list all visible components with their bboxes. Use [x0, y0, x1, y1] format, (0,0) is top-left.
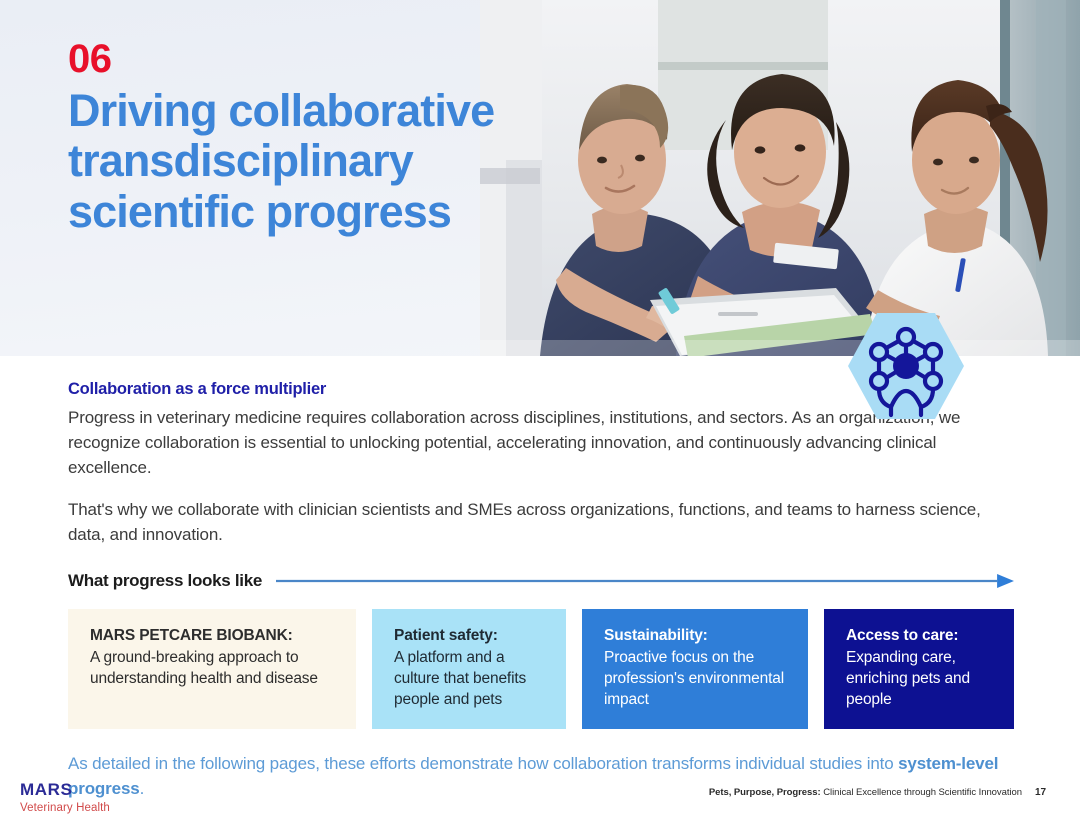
- hero-banner: 06 Driving collaborative transdisciplina…: [0, 0, 1080, 356]
- slide-root: 06 Driving collaborative transdisciplina…: [0, 0, 1080, 834]
- progress-card-access-to-care[interactable]: Access to care: Expanding care, enrichin…: [824, 609, 1014, 729]
- progress-card-body: Proactive focus on the profession's envi…: [604, 648, 790, 711]
- mars-veterinary-health-logo: MARS Veterinary Health: [20, 781, 110, 816]
- progress-section-label: What progress looks like: [68, 571, 262, 591]
- footer: MARS Veterinary Health Pets, Purpose, Pr…: [0, 776, 1080, 834]
- logo-tagline: Veterinary Health: [20, 801, 110, 816]
- section-number: 06: [68, 38, 498, 80]
- footer-doc-subtitle: Clinical Excellence through Scientific I…: [823, 787, 1022, 798]
- progress-card-body: A platform and a culture that benefits p…: [394, 648, 548, 711]
- footer-doc-title: Pets, Purpose, Progress:: [709, 787, 821, 798]
- logo-wordmark: MARS: [20, 781, 110, 800]
- progress-card-title: Sustainability:: [604, 626, 790, 647]
- progress-card-title: MARS PETCARE BIOBANK:: [90, 626, 338, 647]
- progress-card-sustainability[interactable]: Sustainability: Proactive focus on the p…: [582, 609, 808, 729]
- main-content: Collaboration as a force multiplier Prog…: [68, 380, 1014, 802]
- collaboration-network-icon: [845, 311, 967, 421]
- hero-title-block: 06 Driving collaborative transdisciplina…: [68, 38, 498, 237]
- closing-prefix: As detailed in the following pages, thes…: [68, 754, 898, 773]
- right-arrow-icon: [276, 573, 1014, 589]
- progress-card-title: Patient safety:: [394, 626, 548, 647]
- progress-card-patient-safety[interactable]: Patient safety: A platform and a culture…: [372, 609, 566, 729]
- progress-header-row: What progress looks like: [68, 571, 1014, 591]
- progress-card-title: Access to care:: [846, 626, 996, 647]
- page-title-text: Driving collaborative transdisciplinary …: [68, 85, 494, 237]
- footer-caption: Pets, Purpose, Progress: Clinical Excell…: [709, 787, 1046, 798]
- page-number: 17: [1035, 787, 1046, 798]
- paragraph-2: That's why we collaborate with clinician…: [68, 498, 1014, 548]
- progress-cards: MARS PETCARE BIOBANK: A ground-breaking …: [68, 609, 1014, 729]
- hero-photograph: [480, 0, 1080, 356]
- progress-card-body: Expanding care, enriching pets and peopl…: [846, 648, 996, 711]
- page-title: Driving collaborative transdisciplinary …: [68, 86, 498, 237]
- progress-card-body: A ground-breaking approach to understand…: [90, 648, 338, 690]
- progress-card-biobank[interactable]: MARS PETCARE BIOBANK: A ground-breaking …: [68, 609, 356, 729]
